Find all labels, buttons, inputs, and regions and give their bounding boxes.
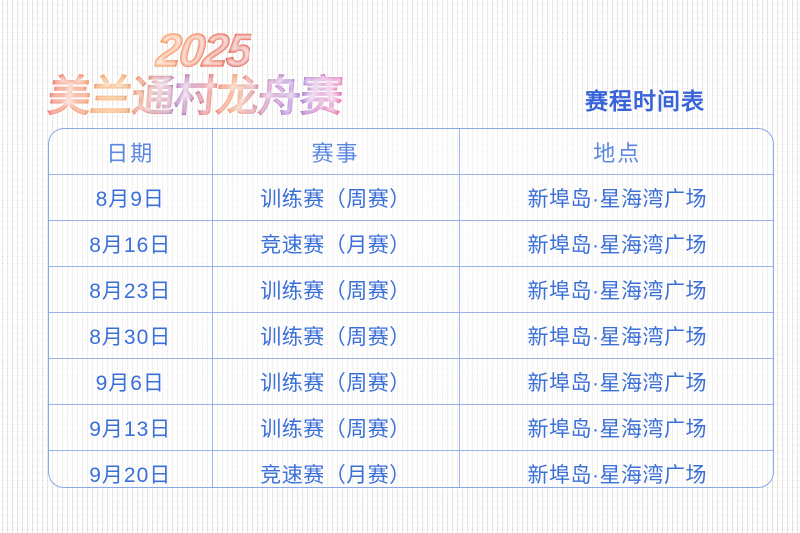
table-body: 8月9日 训练赛（周赛） 新埠岛·星海湾广场 8月16日 竞速赛（月赛） 新埠岛… bbox=[49, 175, 774, 489]
column-header-place: 地点 bbox=[459, 129, 774, 175]
table-header-row: 日期 赛事 地点 bbox=[49, 129, 774, 175]
cell-event: 训练赛（周赛） bbox=[212, 175, 459, 221]
cell-date: 8月23日 bbox=[49, 267, 212, 313]
cell-date: 8月9日 bbox=[49, 175, 212, 221]
schedule-table-container: 日期 赛事 地点 8月9日 训练赛（周赛） 新埠岛·星海湾广场 8月16日 竞速… bbox=[48, 128, 774, 488]
table-row: 9月6日 训练赛（周赛） 新埠岛·星海湾广场 bbox=[49, 359, 774, 405]
cell-place: 新埠岛·星海湾广场 bbox=[459, 405, 774, 451]
cell-place: 新埠岛·星海湾广场 bbox=[459, 451, 774, 489]
schedule-table: 日期 赛事 地点 8月9日 训练赛（周赛） 新埠岛·星海湾广场 8月16日 竞速… bbox=[49, 129, 774, 488]
cell-event: 训练赛（周赛） bbox=[212, 359, 459, 405]
cell-date: 9月20日 bbox=[49, 451, 212, 489]
cell-place: 新埠岛·星海湾广场 bbox=[459, 221, 774, 267]
event-logo: 2025 美兰通村龙舟赛 美兰通村龙舟赛 bbox=[38, 26, 398, 126]
cell-place: 新埠岛·星海湾广场 bbox=[459, 175, 774, 221]
table-row: 9月20日 竞速赛（月赛） 新埠岛·星海湾广场 bbox=[49, 451, 774, 489]
column-header-date: 日期 bbox=[49, 129, 212, 175]
cell-event: 训练赛（周赛） bbox=[212, 313, 459, 359]
cell-date: 9月6日 bbox=[49, 359, 212, 405]
cell-event: 训练赛（周赛） bbox=[212, 267, 459, 313]
cell-event: 竞速赛（月赛） bbox=[212, 221, 459, 267]
cell-date: 8月16日 bbox=[49, 221, 212, 267]
poster-canvas: 2025 美兰通村龙舟赛 美兰通村龙舟赛 赛程时间表 日期 赛事 地点 8月9日 bbox=[0, 0, 800, 533]
table-row: 8月30日 训练赛（周赛） 新埠岛·星海湾广场 bbox=[49, 313, 774, 359]
cell-event: 训练赛（周赛） bbox=[212, 405, 459, 451]
cell-date: 9月13日 bbox=[49, 405, 212, 451]
logo-year-text: 2025 bbox=[153, 26, 252, 74]
cell-place: 新埠岛·星海湾广场 bbox=[459, 267, 774, 313]
cell-place: 新埠岛·星海湾广场 bbox=[459, 313, 774, 359]
cell-place: 新埠岛·星海湾广场 bbox=[459, 359, 774, 405]
cell-date: 8月30日 bbox=[49, 313, 212, 359]
table-row: 8月9日 训练赛（周赛） 新埠岛·星海湾广场 bbox=[49, 175, 774, 221]
table-header: 日期 赛事 地点 bbox=[49, 129, 774, 175]
table-row: 8月16日 竞速赛（月赛） 新埠岛·星海湾广场 bbox=[49, 221, 774, 267]
logo-title-text: 美兰通村龙舟赛 bbox=[46, 72, 344, 122]
table-row: 9月13日 训练赛（周赛） 新埠岛·星海湾广场 bbox=[49, 405, 774, 451]
table-row: 8月23日 训练赛（周赛） 新埠岛·星海湾广场 bbox=[49, 267, 774, 313]
schedule-heading: 赛程时间表 bbox=[585, 82, 705, 116]
column-header-event: 赛事 bbox=[212, 129, 459, 175]
cell-event: 竞速赛（月赛） bbox=[212, 451, 459, 489]
